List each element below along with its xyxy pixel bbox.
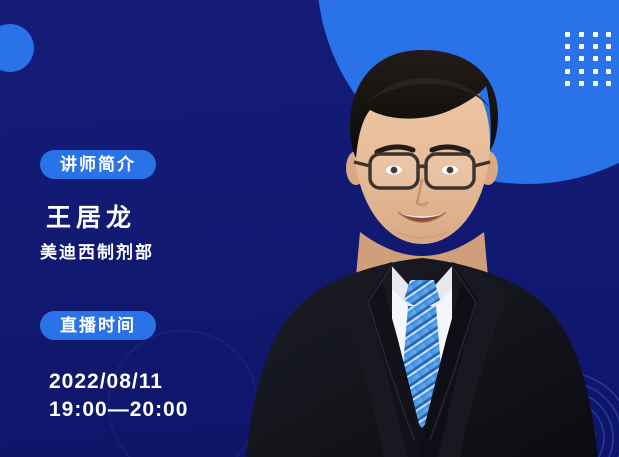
webinar-speaker-poster: 讲师简介 王居龙 美迪西制剂部 直播时间 2022/08/11 19:00—20…: [0, 0, 619, 457]
speaker-name: 王居龙: [46, 198, 136, 234]
speaker-organization: 美迪西制剂部: [40, 238, 154, 263]
broadcast-time-range: 19:00—20:00: [49, 398, 188, 422]
speaker-section-badge: 讲师简介: [40, 150, 156, 179]
time-section-badge: 直播时间: [40, 311, 156, 340]
broadcast-date: 2022/08/11: [49, 370, 163, 394]
poster-text-content: 讲师简介 王居龙 美迪西制剂部 直播时间 2022/08/11 19:00—20…: [0, 0, 300, 457]
